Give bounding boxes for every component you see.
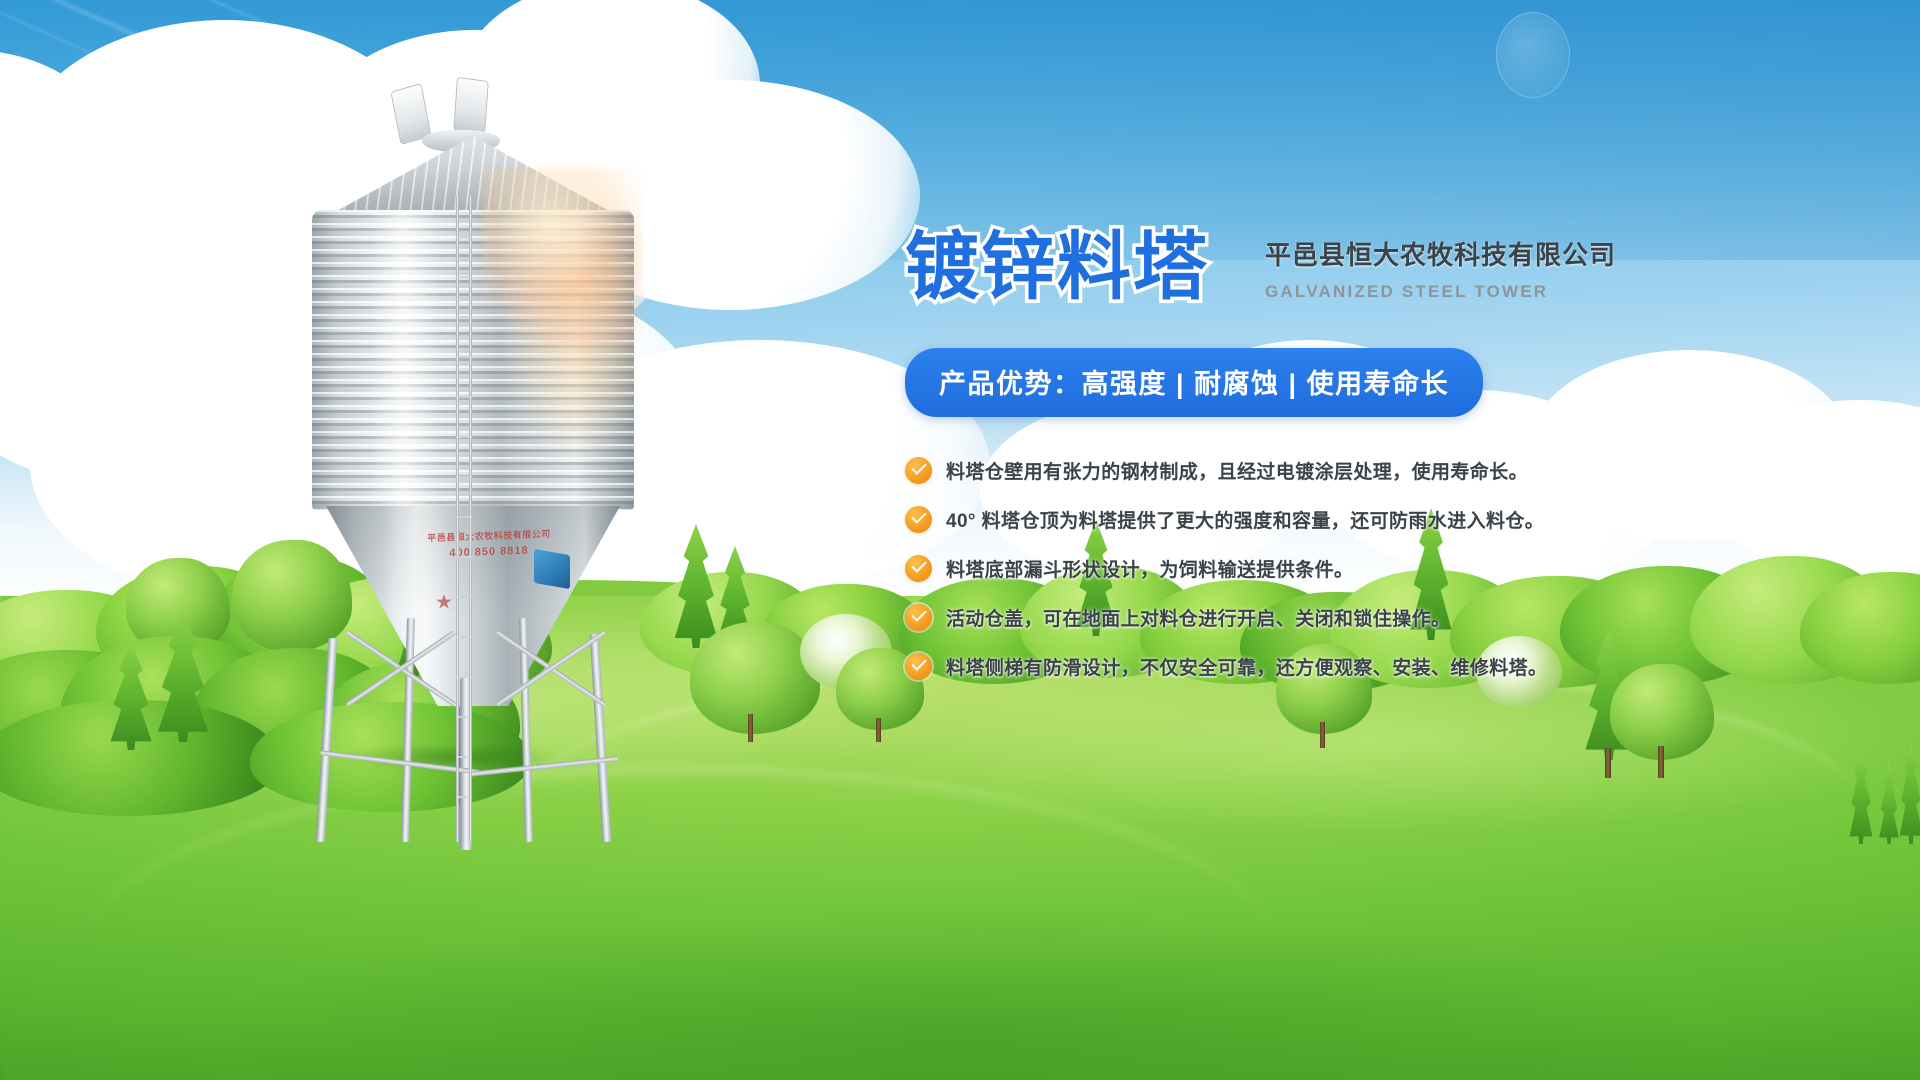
check-circle-icon (905, 457, 932, 484)
page-title: 镀锌料塔 (905, 230, 1209, 304)
silo-blue-outlet (534, 549, 570, 589)
feature-text: 料塔侧梯有防滑设计，不仅安全可靠，还方便观察、安装、维修料塔。 (946, 653, 1547, 680)
feature-text: 40° 料塔仓顶为料塔提供了更大的强度和容量，还可防雨水进入料仓。 (946, 506, 1544, 533)
silo-lid-hatch (454, 78, 487, 134)
check-circle-icon (905, 555, 932, 582)
feature-list: 料塔仓壁用有张力的钢材制成，且经过电镀涂层处理，使用寿命长。 40° 料塔仓顶为… (905, 457, 1605, 680)
check-circle-icon (905, 506, 932, 533)
hero-text-panel: 镀锌料塔 平邑县恒大农牧科技有限公司 GALVANIZED STEEL TOWE… (905, 228, 1605, 702)
sun-flare (482, 168, 642, 348)
feature-text: 料塔底部漏斗形状设计，为饲料输送提供条件。 (946, 555, 1353, 582)
product-subtitle-en: GALVANIZED STEEL TOWER (1265, 282, 1616, 302)
product-advantage-badge: 产品优势：高强度 | 耐腐蚀 | 使用寿命长 (905, 348, 1483, 417)
brand-block: 平邑县恒大农牧科技有限公司 GALVANIZED STEEL TOWER (1265, 233, 1616, 302)
company-name: 平邑县恒大农牧科技有限公司 (1265, 235, 1616, 272)
list-item: 活动仓盖，可在地面上对料仓进行开启、关闭和锁住操作。 (905, 604, 1605, 631)
silo-side-ladder (456, 196, 472, 842)
check-circle-icon (905, 604, 932, 631)
feature-text: 料塔仓壁用有张力的钢材制成，且经过电镀涂层处理，使用寿命长。 (946, 457, 1528, 484)
headline-row: 镀锌料塔 平邑县恒大农牧科技有限公司 GALVANIZED STEEL TOWE… (905, 228, 1605, 306)
hero-banner: 平邑县恒大农牧科技有限公司 400 850 8818 (0, 0, 1920, 1080)
list-item: 料塔仓壁用有张力的钢材制成，且经过电镀涂层处理，使用寿命长。 (905, 457, 1605, 484)
list-item: 料塔底部漏斗形状设计，为饲料输送提供条件。 (905, 555, 1605, 582)
feature-text: 活动仓盖，可在地面上对料仓进行开启、关闭和锁住操作。 (946, 604, 1450, 631)
translucent-circle-decoration (1496, 12, 1570, 98)
galvanized-silo-image: 平邑县恒大农牧科技有限公司 400 850 8818 (296, 78, 648, 758)
silo-lid-hatch (392, 84, 431, 144)
check-circle-icon (905, 653, 932, 680)
list-item: 40° 料塔仓顶为料塔提供了更大的强度和容量，还可防雨水进入料仓。 (905, 506, 1605, 533)
list-item: 料塔侧梯有防滑设计，不仅安全可靠，还方便观察、安装、维修料塔。 (905, 653, 1605, 680)
